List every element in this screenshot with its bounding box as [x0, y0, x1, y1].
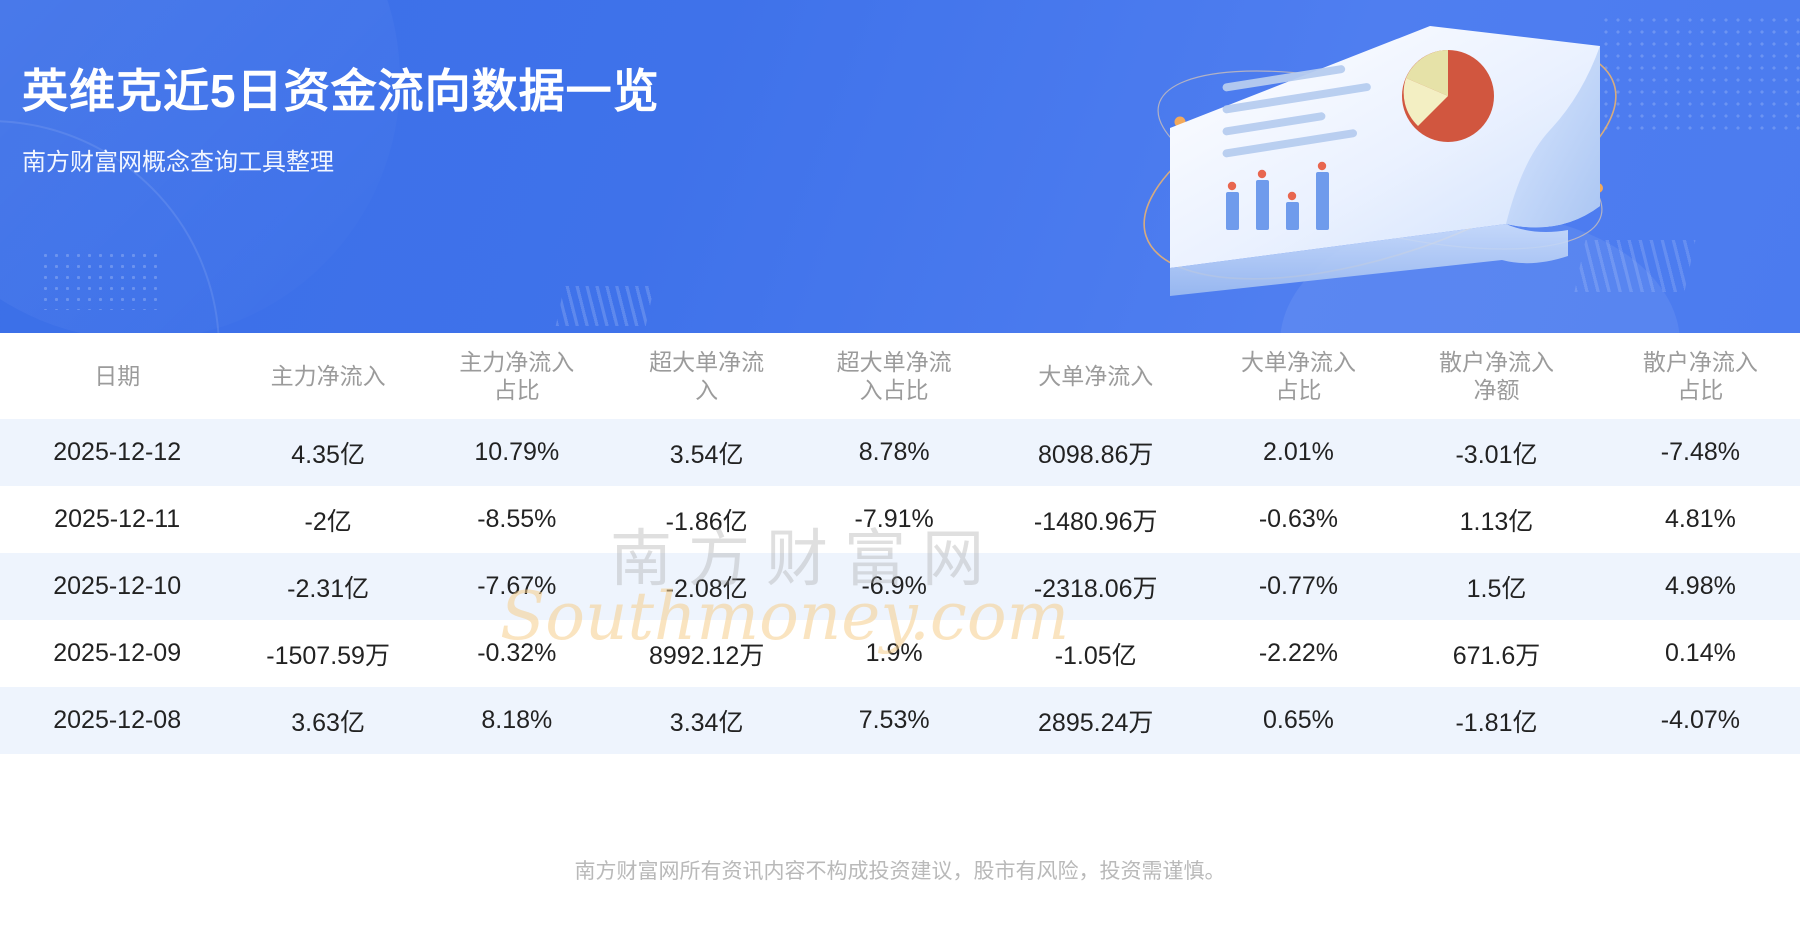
- cell-large-net-inflow: 2895.24万: [987, 687, 1205, 754]
- column-header-large-net-inflow: 大单净流入: [987, 333, 1205, 419]
- cell-retail-net-inflow-amount: 1.5亿: [1392, 553, 1601, 620]
- cell-date: 2025-12-10: [0, 553, 234, 620]
- page-title: 英维克近5日资金流向数据一览: [22, 55, 660, 121]
- cell-large-net-inflow-ratio: -2.22%: [1205, 620, 1393, 687]
- header-line-2: 占比: [494, 377, 540, 403]
- page-root: 英维克近5日资金流向数据一览 南方财富网概念查询工具整理: [0, 0, 1800, 928]
- page-banner: 英维克近5日资金流向数据一览 南方财富网概念查询工具整理: [0, 0, 1800, 333]
- cell-retail-net-inflow-amount: 1.13亿: [1392, 486, 1601, 553]
- column-header-super-large-net-inflow: 超大单净流 入: [612, 333, 802, 419]
- cell-date: 2025-12-09: [0, 620, 234, 687]
- cell-super-large-net-inflow: 8992.12万: [612, 620, 802, 687]
- cell-main-net-inflow: -2亿: [234, 486, 422, 553]
- table-body: 2025-12-12 4.35亿 10.79% 3.54亿 8.78% 8098…: [0, 419, 1800, 754]
- table-header: 日期 主力净流入 主力净流入 占比 超大单净流 入 超大单净流: [0, 333, 1800, 419]
- cell-retail-net-inflow-amount: 671.6万: [1392, 620, 1601, 687]
- cell-main-net-inflow-ratio: 10.79%: [422, 419, 612, 486]
- table-header-row: 日期 主力净流入 主力净流入 占比 超大单净流 入 超大单净流: [0, 333, 1800, 419]
- header-line-2: 入: [695, 377, 718, 403]
- cell-super-large-net-inflow: -2.08亿: [612, 553, 802, 620]
- header-line-1: 超大单净流: [837, 349, 952, 375]
- cell-large-net-inflow: -1480.96万: [987, 486, 1205, 553]
- table-row: 2025-12-09 -1507.59万 -0.32% 8992.12万 1.9…: [0, 620, 1800, 687]
- header-line-1: 散户净流入: [1439, 349, 1554, 375]
- table-row: 2025-12-11 -2亿 -8.55% -1.86亿 -7.91% -148…: [0, 486, 1800, 553]
- cell-date: 2025-12-08: [0, 687, 234, 754]
- disclaimer-text: 南方财富网所有资讯内容不构成投资建议，股市有风险，投资需谨慎。: [0, 855, 1800, 885]
- cell-main-net-inflow-ratio: -7.67%: [422, 553, 612, 620]
- cell-main-net-inflow-ratio: -0.32%: [422, 620, 612, 687]
- cell-large-net-inflow: -2318.06万: [987, 553, 1205, 620]
- header-line-2: 入占比: [860, 377, 929, 403]
- cell-retail-net-inflow-amount: -3.01亿: [1392, 419, 1601, 486]
- cell-retail-net-inflow-ratio: 0.14%: [1601, 620, 1800, 687]
- header-line-1: 主力净流入: [271, 363, 386, 389]
- header-line-1: 日期: [94, 363, 140, 389]
- cell-large-net-inflow-ratio: 2.01%: [1205, 419, 1393, 486]
- cell-date: 2025-12-12: [0, 419, 234, 486]
- column-header-large-net-inflow-ratio: 大单净流入 占比: [1205, 333, 1393, 419]
- column-header-retail-net-inflow-ratio: 散户净流入 占比: [1601, 333, 1800, 419]
- cell-super-large-net-inflow-ratio: -6.9%: [802, 553, 987, 620]
- cell-retail-net-inflow-ratio: 4.98%: [1601, 553, 1800, 620]
- cell-super-large-net-inflow-ratio: 8.78%: [802, 419, 987, 486]
- cell-super-large-net-inflow-ratio: 7.53%: [802, 687, 987, 754]
- cell-super-large-net-inflow: 3.34亿: [612, 687, 802, 754]
- banner-decor-stripes-left: [556, 286, 655, 326]
- cell-date: 2025-12-11: [0, 486, 234, 553]
- cell-super-large-net-inflow-ratio: 1.9%: [802, 620, 987, 687]
- cell-main-net-inflow: 4.35亿: [234, 419, 422, 486]
- fund-flow-table: 日期 主力净流入 主力净流入 占比 超大单净流 入 超大单净流: [0, 333, 1800, 754]
- cell-super-large-net-inflow: 3.54亿: [612, 419, 802, 486]
- table-row: 2025-12-12 4.35亿 10.79% 3.54亿 8.78% 8098…: [0, 419, 1800, 486]
- header-line-2: 占比: [1677, 377, 1723, 403]
- financial-report-illustration: [1130, 10, 1650, 310]
- table-row: 2025-12-08 3.63亿 8.18% 3.34亿 7.53% 2895.…: [0, 687, 1800, 754]
- header-line-1: 超大单净流: [649, 349, 764, 375]
- cell-large-net-inflow-ratio: -0.63%: [1205, 486, 1393, 553]
- cell-large-net-inflow-ratio: -0.77%: [1205, 553, 1393, 620]
- header-line-1: 大单净流入: [1241, 349, 1356, 375]
- header-line-2: 净额: [1473, 377, 1519, 403]
- cell-super-large-net-inflow: -1.86亿: [612, 486, 802, 553]
- column-header-main-net-inflow-ratio: 主力净流入 占比: [422, 333, 612, 419]
- cell-retail-net-inflow-ratio: 4.81%: [1601, 486, 1800, 553]
- cell-retail-net-inflow-ratio: -7.48%: [1601, 419, 1800, 486]
- header-line-1: 散户净流入: [1643, 349, 1758, 375]
- cell-large-net-inflow-ratio: 0.65%: [1205, 687, 1393, 754]
- cell-main-net-inflow: 3.63亿: [234, 687, 422, 754]
- table-row: 2025-12-10 -2.31亿 -7.67% -2.08亿 -6.9% -2…: [0, 553, 1800, 620]
- cell-large-net-inflow: 8098.86万: [987, 419, 1205, 486]
- cell-large-net-inflow: -1.05亿: [987, 620, 1205, 687]
- fund-flow-table-container: 日期 主力净流入 主力净流入 占比 超大单净流 入 超大单净流: [0, 333, 1800, 928]
- cell-retail-net-inflow-amount: -1.81亿: [1392, 687, 1601, 754]
- column-header-date: 日期: [0, 333, 234, 419]
- header-line-2: 占比: [1275, 377, 1321, 403]
- cell-main-net-inflow-ratio: 8.18%: [422, 687, 612, 754]
- cell-main-net-inflow: -2.31亿: [234, 553, 422, 620]
- header-line-1: 大单净流入: [1038, 363, 1153, 389]
- cell-main-net-inflow-ratio: -8.55%: [422, 486, 612, 553]
- column-header-super-large-net-inflow-ratio: 超大单净流 入占比: [802, 333, 987, 419]
- banner-decor-dots-left: [40, 250, 160, 310]
- page-subtitle: 南方财富网概念查询工具整理: [22, 142, 334, 177]
- cell-super-large-net-inflow-ratio: -7.91%: [802, 486, 987, 553]
- cell-retail-net-inflow-ratio: -4.07%: [1601, 687, 1800, 754]
- column-header-retail-net-inflow-amount: 散户净流入 净额: [1392, 333, 1601, 419]
- header-line-1: 主力净流入: [459, 349, 574, 375]
- cell-main-net-inflow: -1507.59万: [234, 620, 422, 687]
- column-header-main-net-inflow: 主力净流入: [234, 333, 422, 419]
